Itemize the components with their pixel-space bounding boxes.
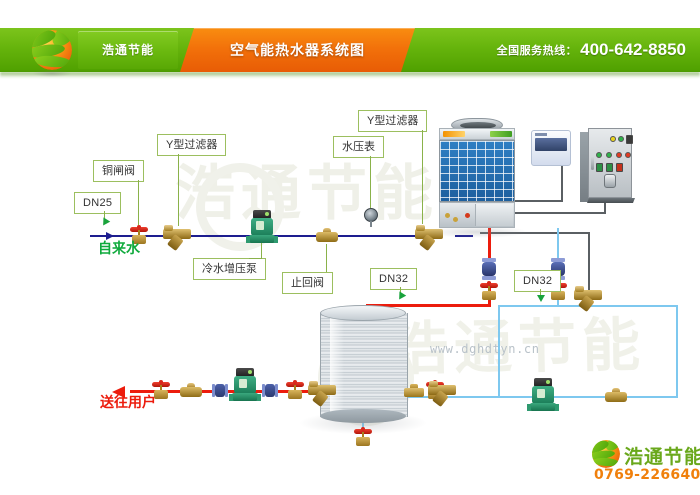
- return-y-strainer-icon: [574, 285, 602, 309]
- pipe-return-left-v: [498, 305, 500, 397]
- tap-water-label: 自来水: [98, 238, 140, 258]
- callout-y-strainer-1: Y型过滤器: [157, 134, 226, 156]
- callout-y-strainer-2: Y型过滤器: [358, 110, 427, 132]
- page-title: 空气能热水器系统图: [180, 28, 415, 72]
- header-brand-label: 浩通节能: [78, 31, 178, 69]
- footer-telephone: 0769-22664029: [594, 467, 700, 483]
- cold-water-booster-pump-icon: [249, 210, 275, 244]
- leader-copper-gate-valve: [138, 180, 139, 225]
- y-strainer-icon-1: [163, 224, 191, 248]
- hotline-number: 400-642-8850: [580, 40, 686, 60]
- return-circulation-pump-icon: [530, 378, 556, 412]
- callout-check-valve: 止回阀: [282, 272, 333, 294]
- footer-brand-name: 浩通节能: [624, 442, 700, 469]
- leader-arrow-dn32-hot: [396, 291, 406, 301]
- pipe-return-right-v: [676, 305, 678, 397]
- leader-water-pressure-gauge: [370, 156, 371, 208]
- outlet-y-strainer-icon: [308, 380, 336, 404]
- outlet-gate-valve-2-icon: [284, 381, 306, 401]
- header-brand-panel: 浩通节能: [78, 31, 178, 69]
- flexible-joint-right-icon: [262, 384, 278, 397]
- hotline-label: 全国服务热线：: [497, 42, 578, 58]
- wire-controller-link-v: [561, 166, 563, 202]
- system-diagram-canvas: 浩通节能 浩通节能 www.dghdtyn.cn 浩通节能 空气能热水器系统图 …: [0, 0, 700, 495]
- return-check-valve-icon: [605, 388, 627, 404]
- outlet-check-valve-icon: [180, 383, 202, 399]
- header-hotline: 全国服务热线： 400-642-8850: [497, 28, 686, 72]
- tank-drain-valve-icon: [352, 428, 374, 448]
- flexible-joint-left-icon: [212, 384, 228, 397]
- check-valve-icon: [316, 228, 338, 244]
- callout-dn25: DN25: [74, 192, 121, 214]
- header-title-ribbon: 空气能热水器系统图: [180, 28, 415, 72]
- leader-cold-pump-h: [249, 258, 262, 259]
- tank-outlet-y-strainer-icon: [428, 380, 456, 404]
- watermark-brand-text-1: 浩通节能: [175, 145, 439, 232]
- leader-check-valve: [326, 244, 327, 272]
- leader-cold-water-booster-pump: [261, 243, 262, 258]
- callout-dn32-hot: DN32: [370, 268, 417, 290]
- electric-control-cabinet-icon[interactable]: [580, 128, 636, 202]
- callout-dn32-return: DN32: [514, 270, 561, 292]
- footer-logo-block: 浩通节能 0769-22664029: [592, 440, 692, 486]
- header-logo-shadow: [32, 70, 72, 77]
- pipe-return-riser-unit: [557, 228, 559, 262]
- water-storage-tank-icon: [320, 305, 406, 423]
- pipe-return-bottom-h: [498, 396, 678, 398]
- callout-copper-gate-valve: 铜闸阀: [93, 160, 144, 182]
- tank-outlet-valve-icon: [404, 384, 424, 398]
- page-header: 浩通节能 空气能热水器系统图 全国服务热线： 400-642-8850: [0, 28, 700, 78]
- watermark-url: www.dghdtyn.cn: [430, 342, 540, 356]
- callout-cold-water-booster-pump: 冷水增压泵: [193, 258, 266, 280]
- gate-valve-hot-outlet-icon: [478, 282, 500, 302]
- to-users-label: 送往用户: [100, 392, 156, 412]
- leader-y-strainer-1: [178, 154, 179, 226]
- wire-controller-icon[interactable]: [531, 130, 571, 166]
- water-pressure-gauge-icon: [364, 208, 378, 222]
- haotong-sphere-logo-icon: [32, 30, 72, 70]
- leader-arrow-dn25: [100, 217, 110, 227]
- leader-arrow-dn32-return: [537, 295, 545, 302]
- watermark-brand-text-2: 浩通节能: [389, 298, 646, 386]
- leader-y-strainer-2: [422, 130, 423, 224]
- flexible-joint-hot-icon: [482, 258, 496, 280]
- heat-pump-unit-icon: [437, 118, 517, 228]
- haotong-sphere-logo-icon-footer: [592, 440, 620, 468]
- wire-pump-control-v: [588, 232, 590, 290]
- hot-water-circulation-pump-icon: [232, 368, 258, 402]
- callout-water-pressure-gauge: 水压表: [333, 136, 384, 158]
